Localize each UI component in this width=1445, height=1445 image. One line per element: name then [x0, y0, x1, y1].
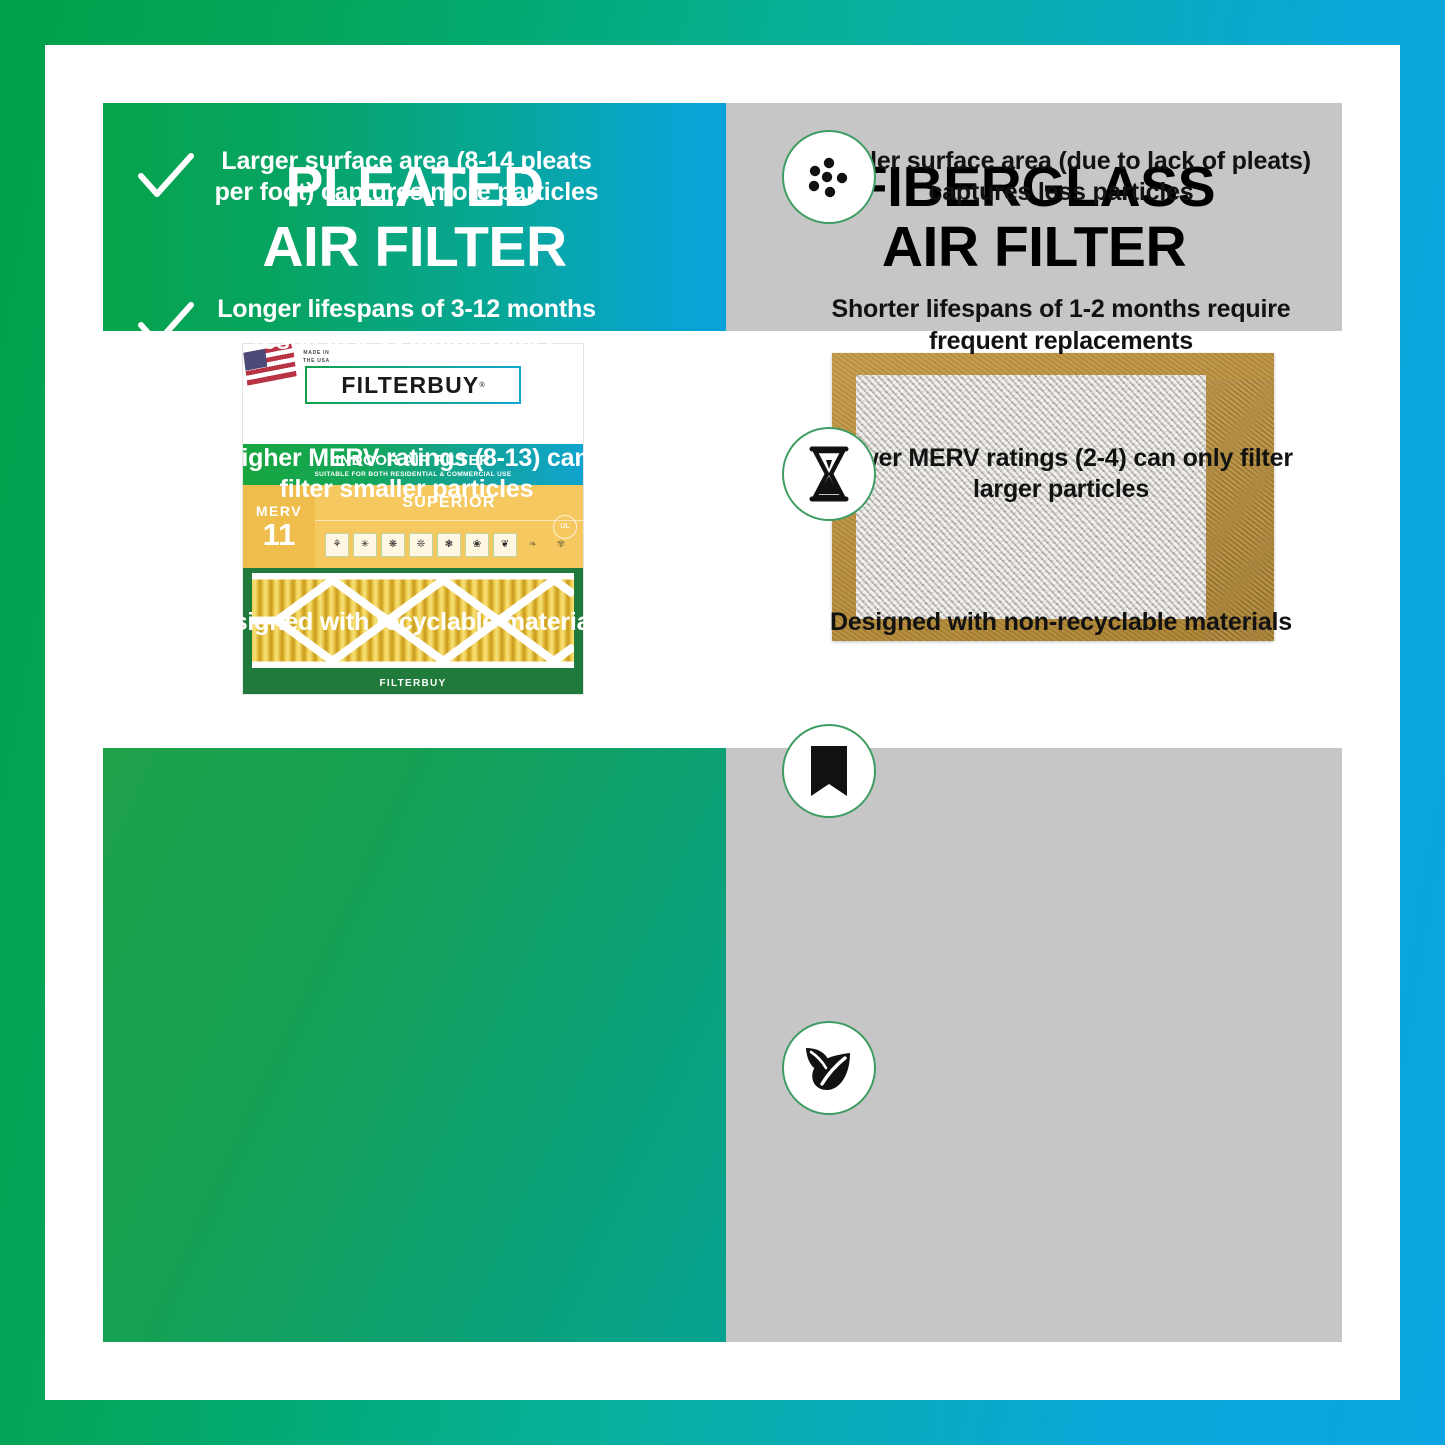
row-left-text: Larger surface area (8-14 pleats per foo…: [199, 146, 726, 209]
row-left-text: Designed with recyclable materials: [199, 607, 726, 639]
check-icon: [133, 301, 199, 351]
row-right-cell: Designed with non-recyclable materials: [726, 549, 1342, 698]
row-left-text: Longer lifespans of 3-12 months result i…: [199, 294, 726, 357]
row-left-cell: Designed with recyclable materials: [103, 549, 726, 698]
infographic-canvas: PLEATED AIR FILTER FIBERGLASS AIR FILTER…: [103, 103, 1342, 1342]
comparison-rows: Larger surface area (8-14 pleats per foo…: [103, 103, 1342, 697]
check-icon: [133, 598, 199, 648]
row-right-text: Shorter lifespans of 1-2 months require …: [804, 294, 1318, 357]
row-left-text: Higher MERV ratings (8-13) can filter sm…: [199, 443, 726, 506]
table-row: Higher MERV ratings (8-13) can filter sm…: [103, 400, 1342, 549]
comparison-left-background: [103, 748, 726, 1342]
particles-icon: [782, 130, 876, 224]
row-left-cell: Larger surface area (8-14 pleats per foo…: [103, 103, 726, 252]
row-left-cell: Longer lifespans of 3-12 months result i…: [103, 252, 726, 401]
row-right-text: Smaller surface area (due to lack of ple…: [804, 146, 1318, 209]
row-left-cell: Higher MERV ratings (8-13) can filter sm…: [103, 400, 726, 549]
table-row: Larger surface area (8-14 pleats per foo…: [103, 103, 1342, 252]
table-row: Designed with recyclable materials Desig…: [103, 549, 1342, 698]
row-right-cell: Shorter lifespans of 1-2 months require …: [726, 252, 1342, 401]
row-right-text: Designed with non-recyclable materials: [830, 607, 1292, 639]
row-right-text: Lower MERV ratings (2-4) can only filter…: [804, 443, 1318, 506]
bookmark-icon: [782, 724, 876, 818]
table-row: Longer lifespans of 3-12 months result i…: [103, 252, 1342, 401]
leaf-icon: [782, 1021, 876, 1115]
comparison-panel: [103, 748, 1342, 1342]
check-icon: [133, 152, 199, 202]
check-icon: [133, 449, 199, 499]
hourglass-icon: [782, 427, 876, 521]
